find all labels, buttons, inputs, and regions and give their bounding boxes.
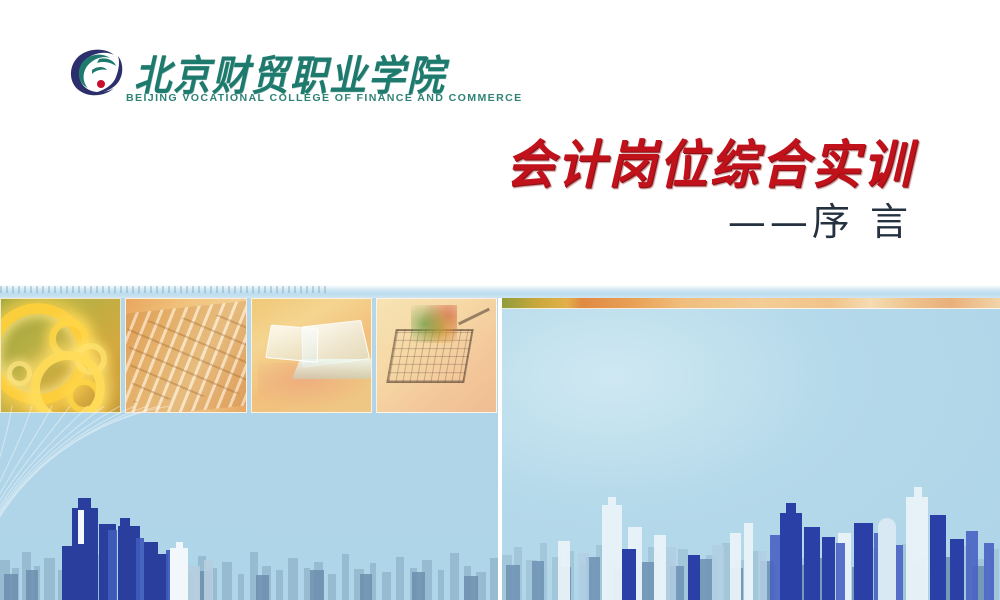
gear-icon [67,379,101,413]
left-image-panel [0,298,500,600]
swirl-emblem-icon [66,46,128,100]
city-skyline-left [0,450,500,600]
photo-tile-laptops [251,298,372,413]
photo-tile-strip [0,298,500,413]
slide-subtitle: ——序 言 [728,191,912,246]
city-skyline-right [502,415,1000,600]
right-image-panel [502,298,1000,600]
laptop-base [291,359,371,379]
photo-tile-shopping-cart [376,298,497,413]
gear-icon [75,343,107,375]
gear-icon [7,361,32,386]
cart-handle [458,308,490,326]
header-divider-band [0,285,1000,298]
slide-title: 会计岗位综合实训 [506,122,914,198]
slide-header: 北京财贸职业学院 BEIJING VOCATIONAL COLLEGE OF F… [0,0,1000,285]
band-tick-pattern [0,286,330,293]
warm-photo-strip [502,298,1000,309]
logo-english-name: BEIJING VOCATIONAL COLLEGE OF FINANCE AN… [126,93,523,104]
college-logo: 北京财贸职业学院 BEIJING VOCATIONAL COLLEGE OF F… [66,44,496,110]
photo-tile-gears [0,298,121,413]
photo-tile-abacus [125,298,246,413]
presentation-slide: 北京财贸职业学院 BEIJING VOCATIONAL COLLEGE OF F… [0,0,1000,600]
slide-body [0,285,1000,600]
